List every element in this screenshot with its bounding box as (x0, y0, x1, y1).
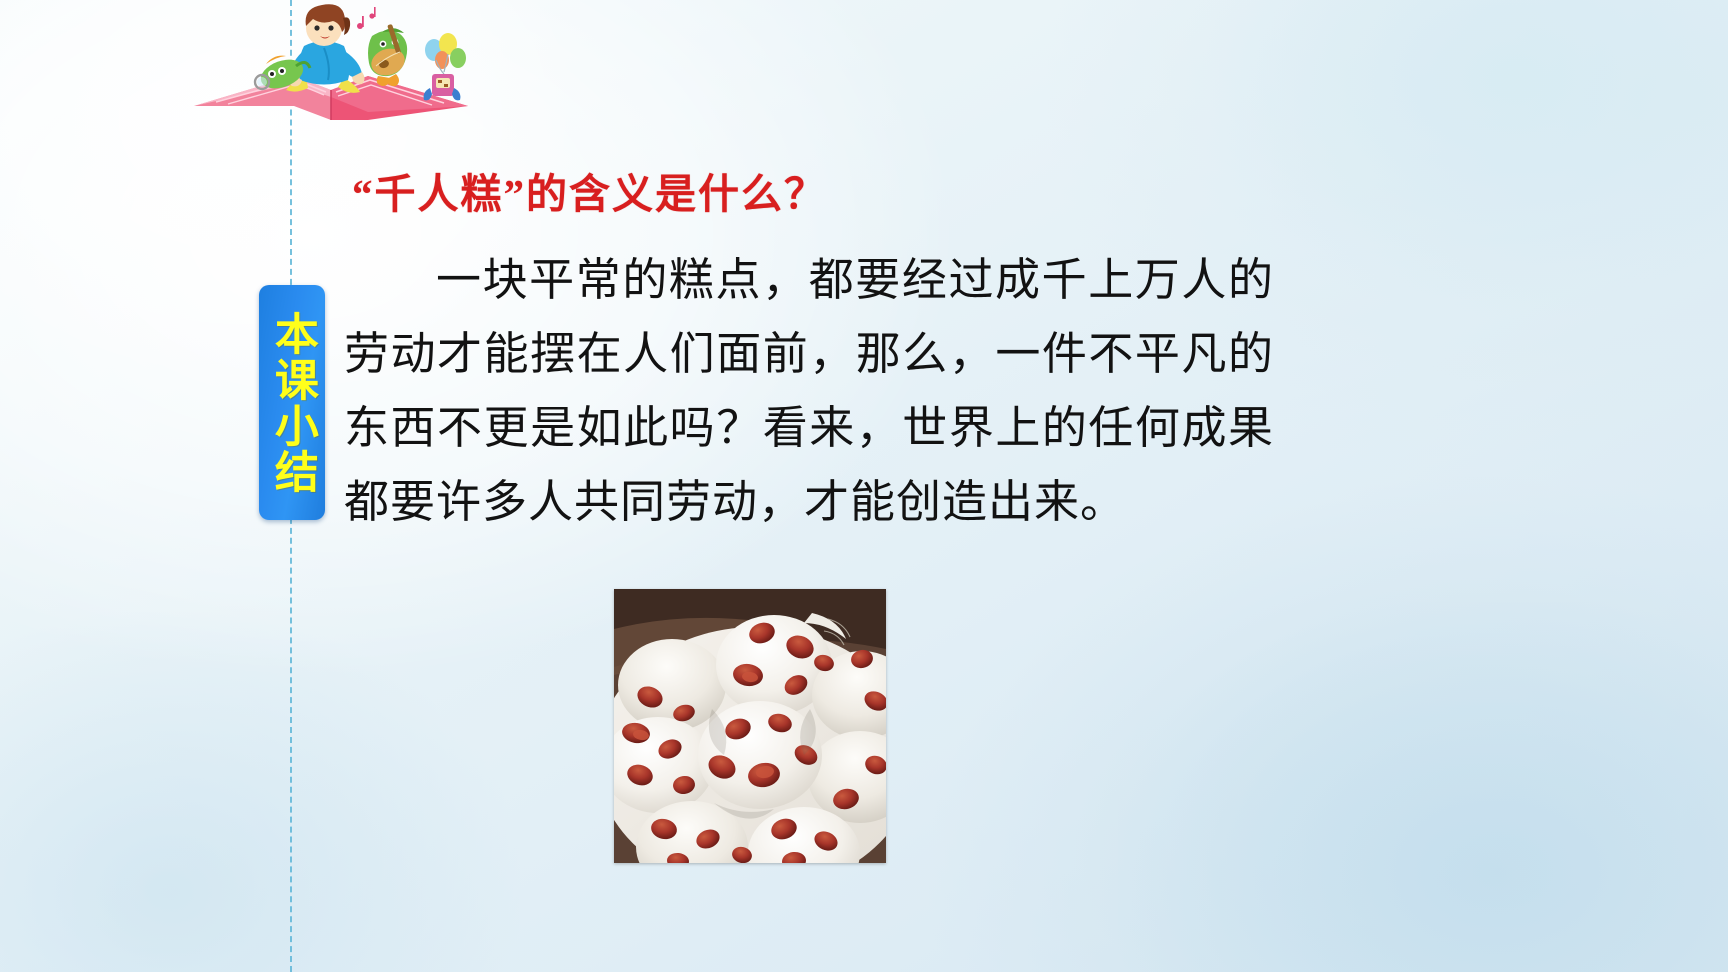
background-wash-bottom-left (0, 612, 520, 972)
background-wash-bottom-right (1118, 602, 1728, 972)
header-illustration (186, 2, 476, 130)
rice-cake-photo (614, 589, 886, 863)
lesson-summary-tag-label: 本课小结 (265, 311, 319, 495)
body-paragraph: 一块平常的糕点，都要经过成千上万人的劳动才能摆在人们面前，那么，一件不平凡的东西… (344, 243, 1274, 539)
slide-canvas: “千人糕”的含义是什么？ 本课小结 一块平常的糕点，都要经过成千上万人的劳动才能… (0, 0, 1728, 972)
page-title: “千人糕”的含义是什么？ (352, 160, 827, 220)
lesson-summary-tag: 本课小结 (259, 285, 325, 520)
background-wash-top-right (1208, 0, 1728, 300)
